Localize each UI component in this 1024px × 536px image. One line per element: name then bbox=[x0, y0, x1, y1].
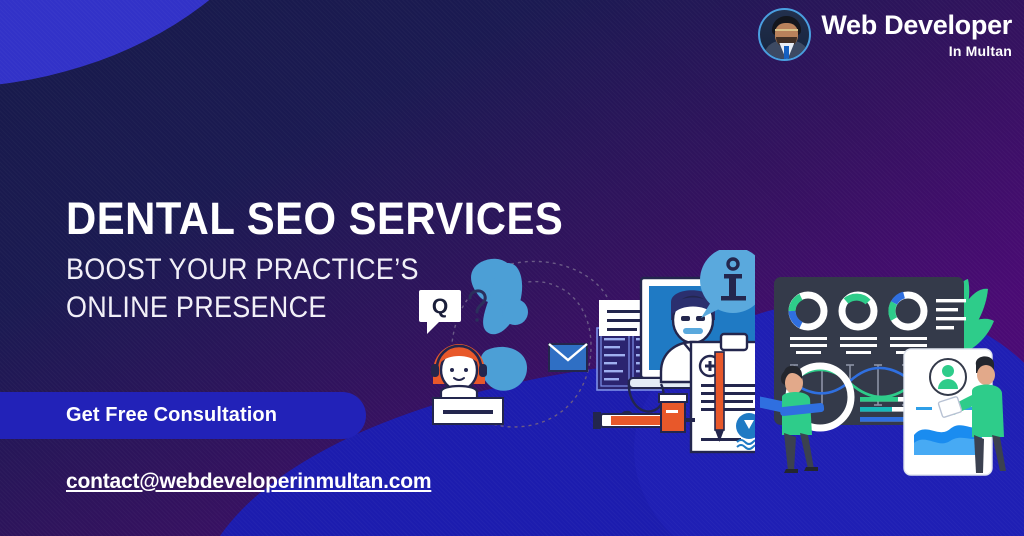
brand-text: Web Developer In Multan bbox=[821, 12, 1012, 58]
hero-subheading-line1: BOOST YOUR PRACTICE’S bbox=[66, 251, 547, 289]
hero-copy: DENTAL SEO SERVICES BOOST YOUR PRACTICE’… bbox=[66, 196, 601, 328]
analytics-dashboard-illustration bbox=[760, 265, 1024, 480]
page-title: DENTAL SEO SERVICES bbox=[66, 196, 563, 241]
hero-subheading: BOOST YOUR PRACTICE’S ONLINE PRESENCE bbox=[66, 251, 547, 328]
hero-banner: Web Developer In Multan DENTAL SEO SERVI… bbox=[0, 0, 1024, 536]
decor-ellipse-top-left bbox=[0, 0, 310, 88]
card-icon bbox=[433, 398, 503, 424]
info-bubble-icon bbox=[700, 250, 755, 318]
brand-tagline: In Multan bbox=[821, 44, 1012, 58]
cta-label: Get Free Consultation bbox=[66, 404, 277, 427]
envelope-mail-icon bbox=[549, 344, 587, 371]
pill-bottle-icon bbox=[659, 394, 687, 432]
get-free-consultation-button[interactable]: Get Free Consultation bbox=[0, 392, 366, 439]
brand-logo[interactable]: Web Developer In Multan bbox=[758, 8, 1012, 61]
hero-subheading-line2: ONLINE PRESENCE bbox=[66, 289, 547, 327]
pen-icon bbox=[715, 352, 724, 442]
brand-name: Web Developer bbox=[821, 12, 1012, 39]
person-avatar-photo-icon bbox=[758, 8, 811, 61]
headset-support-agent-icon bbox=[431, 344, 487, 406]
contact-email-link[interactable]: contact@webdeveloperinmultan.com bbox=[66, 470, 431, 494]
